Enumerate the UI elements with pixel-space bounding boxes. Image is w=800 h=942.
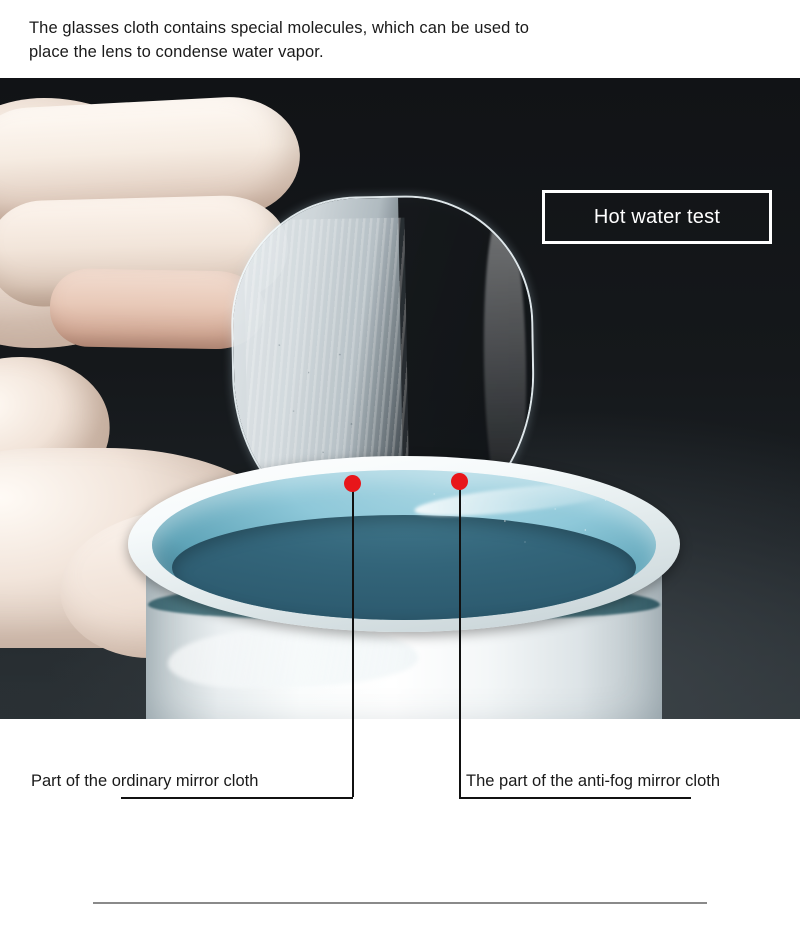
page-root: The glasses cloth contains special molec…	[0, 0, 800, 942]
caption-ordinary-cloth: Part of the ordinary mirror cloth	[31, 771, 258, 791]
hot-water-test-label: Hot water test	[594, 206, 720, 229]
caption-anti-fog-cloth: The part of the anti-fog mirror cloth	[466, 771, 720, 791]
product-photo: Hot water test	[0, 78, 800, 719]
hot-water-test-badge: Hot water test	[542, 190, 772, 244]
caption-underline-right	[459, 797, 691, 799]
cup-interior-water	[152, 470, 656, 620]
header-caption-line-2: place the lens to condense water vapor.	[29, 40, 770, 64]
water-bubbles	[152, 470, 656, 620]
header-caption: The glasses cloth contains special molec…	[0, 0, 800, 78]
ceramic-cup	[128, 456, 680, 719]
caption-underline-left	[121, 797, 353, 799]
footer-divider	[93, 902, 707, 904]
header-caption-line-1: The glasses cloth contains special molec…	[29, 16, 770, 40]
